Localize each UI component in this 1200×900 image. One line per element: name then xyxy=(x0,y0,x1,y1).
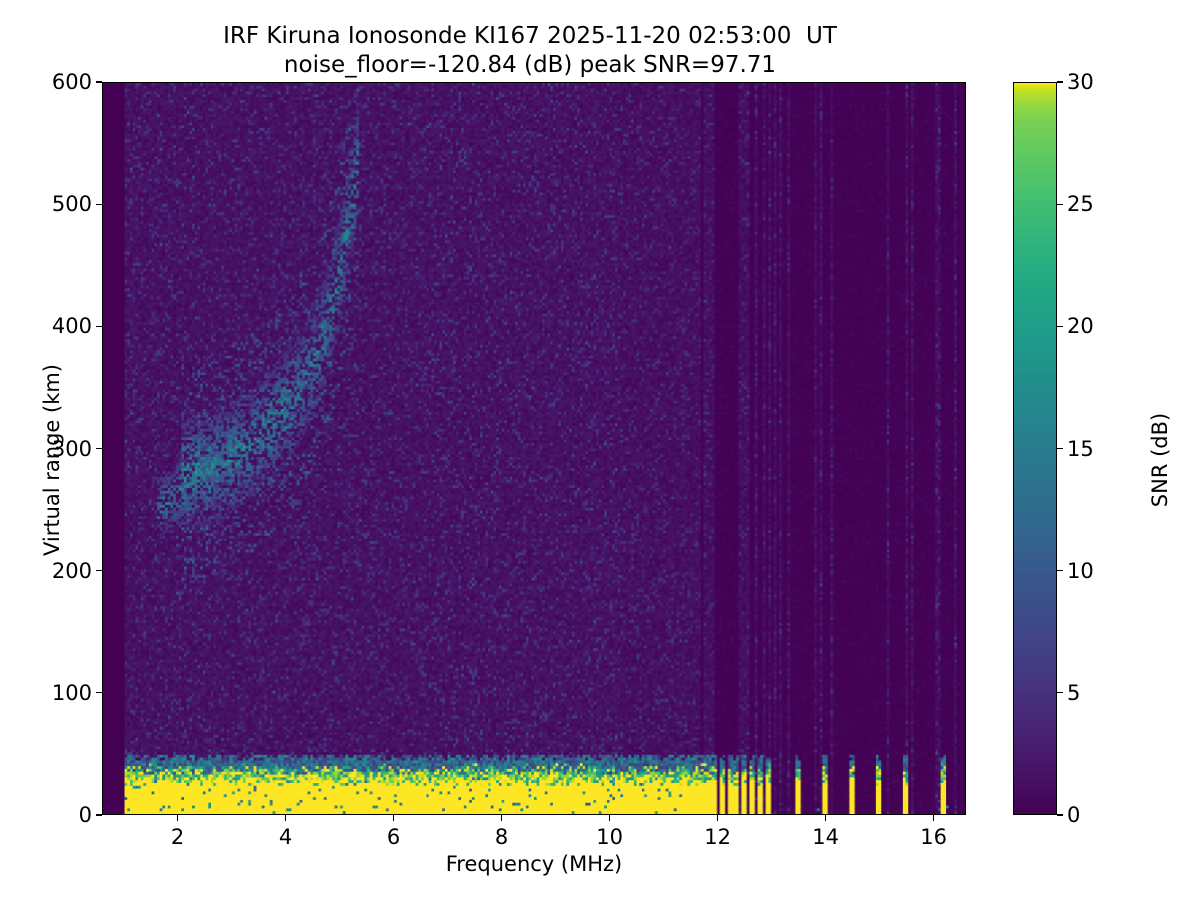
colorbar-tick-label: 10 xyxy=(1067,559,1094,583)
y-tick-label: 0 xyxy=(40,803,92,827)
colorbar-tick-mark xyxy=(1057,814,1063,815)
x-tick-mark xyxy=(933,815,934,821)
y-tick-mark xyxy=(96,570,102,571)
y-tick-label: 500 xyxy=(40,192,92,216)
x-tick-mark xyxy=(501,815,502,821)
colorbar-tick-label: 15 xyxy=(1067,437,1094,461)
y-axis-label: Virtual range (km) xyxy=(40,320,64,600)
colorbar-label: SNR (dB) xyxy=(1148,320,1172,600)
x-tick-label: 4 xyxy=(279,825,292,849)
chart-title: IRF Kiruna Ionosonde KI167 2025-11-20 02… xyxy=(0,22,1060,81)
ionogram-heatmap xyxy=(103,83,965,814)
y-tick-mark xyxy=(96,448,102,449)
y-tick-mark xyxy=(96,692,102,693)
title-line-subtitle: noise_floor=-120.84 (dB) peak SNR=97.71 xyxy=(0,51,1060,80)
x-tick-label: 16 xyxy=(920,825,947,849)
x-tick-label: 12 xyxy=(704,825,731,849)
x-tick-label: 14 xyxy=(812,825,839,849)
x-tick-label: 2 xyxy=(171,825,184,849)
y-tick-mark xyxy=(96,326,102,327)
y-tick-mark xyxy=(96,814,102,815)
colorbar-tick-mark xyxy=(1057,326,1063,327)
x-tick-label: 10 xyxy=(596,825,623,849)
colorbar-tick-label: 20 xyxy=(1067,314,1094,338)
x-tick-mark xyxy=(285,815,286,821)
colorbar-tick-mark xyxy=(1057,692,1063,693)
colorbar-tick-mark xyxy=(1057,81,1063,82)
y-tick-label: 600 xyxy=(40,70,92,94)
colorbar xyxy=(1013,82,1057,815)
colorbar-tick-mark xyxy=(1057,570,1063,571)
x-tick-label: 6 xyxy=(387,825,400,849)
x-tick-mark xyxy=(609,815,610,821)
colorbar-tick-label: 0 xyxy=(1067,803,1080,827)
x-axis-label: Frequency (MHz) xyxy=(102,852,966,876)
y-tick-mark xyxy=(96,81,102,82)
colorbar-tick-label: 5 xyxy=(1067,681,1080,705)
title-line-main: IRF Kiruna Ionosonde KI167 2025-11-20 02… xyxy=(0,22,1060,51)
x-tick-label: 8 xyxy=(495,825,508,849)
colorbar-tick-label: 25 xyxy=(1067,192,1094,216)
x-tick-mark xyxy=(717,815,718,821)
colorbar-tick-mark xyxy=(1057,448,1063,449)
x-tick-mark xyxy=(393,815,394,821)
plot-area xyxy=(102,82,966,815)
y-tick-mark xyxy=(96,204,102,205)
colorbar-tick-mark xyxy=(1057,204,1063,205)
y-tick-label: 100 xyxy=(40,681,92,705)
x-tick-mark xyxy=(177,815,178,821)
colorbar-tick-label: 30 xyxy=(1067,70,1094,94)
ionogram-figure: IRF Kiruna Ionosonde KI167 2025-11-20 02… xyxy=(0,0,1200,900)
x-tick-mark xyxy=(825,815,826,821)
